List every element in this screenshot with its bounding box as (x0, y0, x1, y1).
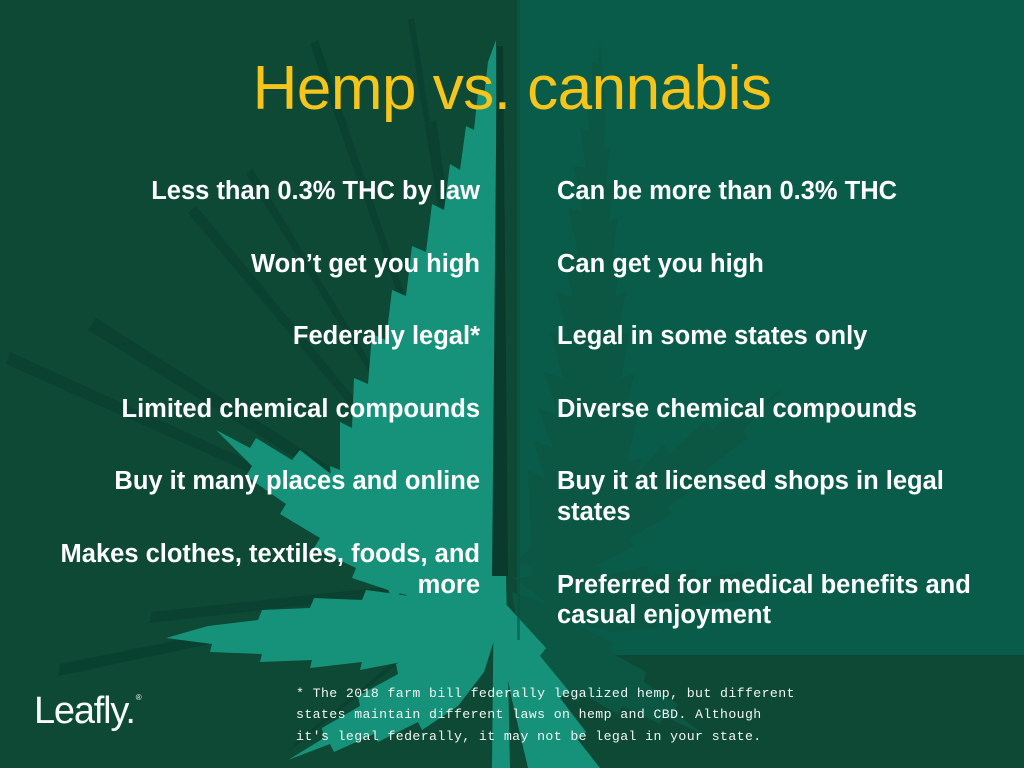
hemp-item: Makes clothes, textiles, foods, and more (28, 539, 480, 600)
cannabis-item: Can get you high (557, 249, 1002, 280)
hemp-item: Federally legal* (28, 321, 480, 352)
cannabis-column: Can be more than 0.3% THC Can get you hi… (557, 176, 1002, 631)
footnote-line: states maintain different laws on hemp a… (296, 704, 906, 725)
leafly-logo: Leafly. ® (34, 692, 142, 730)
hemp-item: Less than 0.3% THC by law (28, 176, 480, 207)
cannabis-item: Diverse chemical compounds (557, 394, 1002, 425)
hemp-item: Limited chemical compounds (28, 394, 480, 425)
cannabis-item: Can be more than 0.3% THC (557, 176, 1002, 207)
page-title: Hemp vs. cannabis (0, 56, 1024, 121)
cannabis-item: Buy it at licensed shops in legal states (557, 466, 1002, 527)
footnote: * The 2018 farm bill federally legalized… (296, 683, 906, 747)
leaf-midrib (492, 46, 508, 576)
infographic-canvas: Hemp vs. cannabis Less than 0.3% THC by … (0, 0, 1024, 768)
cannabis-item: Preferred for medical benefits and casua… (557, 570, 1002, 631)
hemp-column: Less than 0.3% THC by law Won’t get you … (28, 176, 480, 600)
registered-mark-icon: ® (136, 694, 142, 702)
cannabis-item: Legal in some states only (557, 321, 1002, 352)
logo-wordmark: Leafly. (34, 692, 135, 730)
hemp-item: Buy it many places and online (28, 466, 480, 497)
footnote-line: it's legal federally, it may not be lega… (296, 726, 906, 747)
hemp-item: Won’t get you high (28, 249, 480, 280)
footnote-line: * The 2018 farm bill federally legalized… (296, 683, 906, 704)
